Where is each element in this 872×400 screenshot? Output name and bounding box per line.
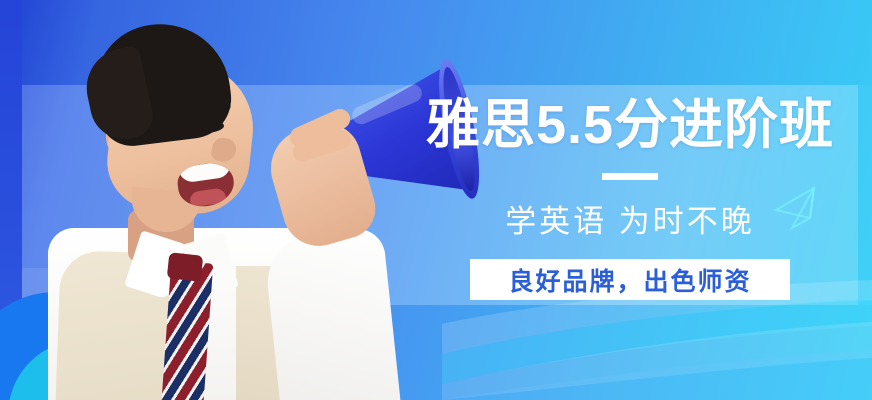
promo-banner: 雅思5.5分进阶班 学英语 为时不晚 良好品牌，出色师资 — [0, 0, 872, 400]
subheadline: 学英语 为时不晚 — [415, 196, 845, 241]
tagline-badge-text: 良好品牌，出色师资 — [508, 262, 751, 298]
tie-knot — [167, 252, 204, 281]
arm — [263, 226, 401, 400]
divider — [602, 173, 658, 180]
text-block: 雅思5.5分进阶班 学英语 为时不晚 良好品牌，出色师资 — [415, 96, 845, 300]
model-photo — [40, 14, 430, 400]
headline: 雅思5.5分进阶班 — [415, 96, 845, 154]
tagline-badge: 良好品牌，出色师资 — [470, 259, 790, 300]
